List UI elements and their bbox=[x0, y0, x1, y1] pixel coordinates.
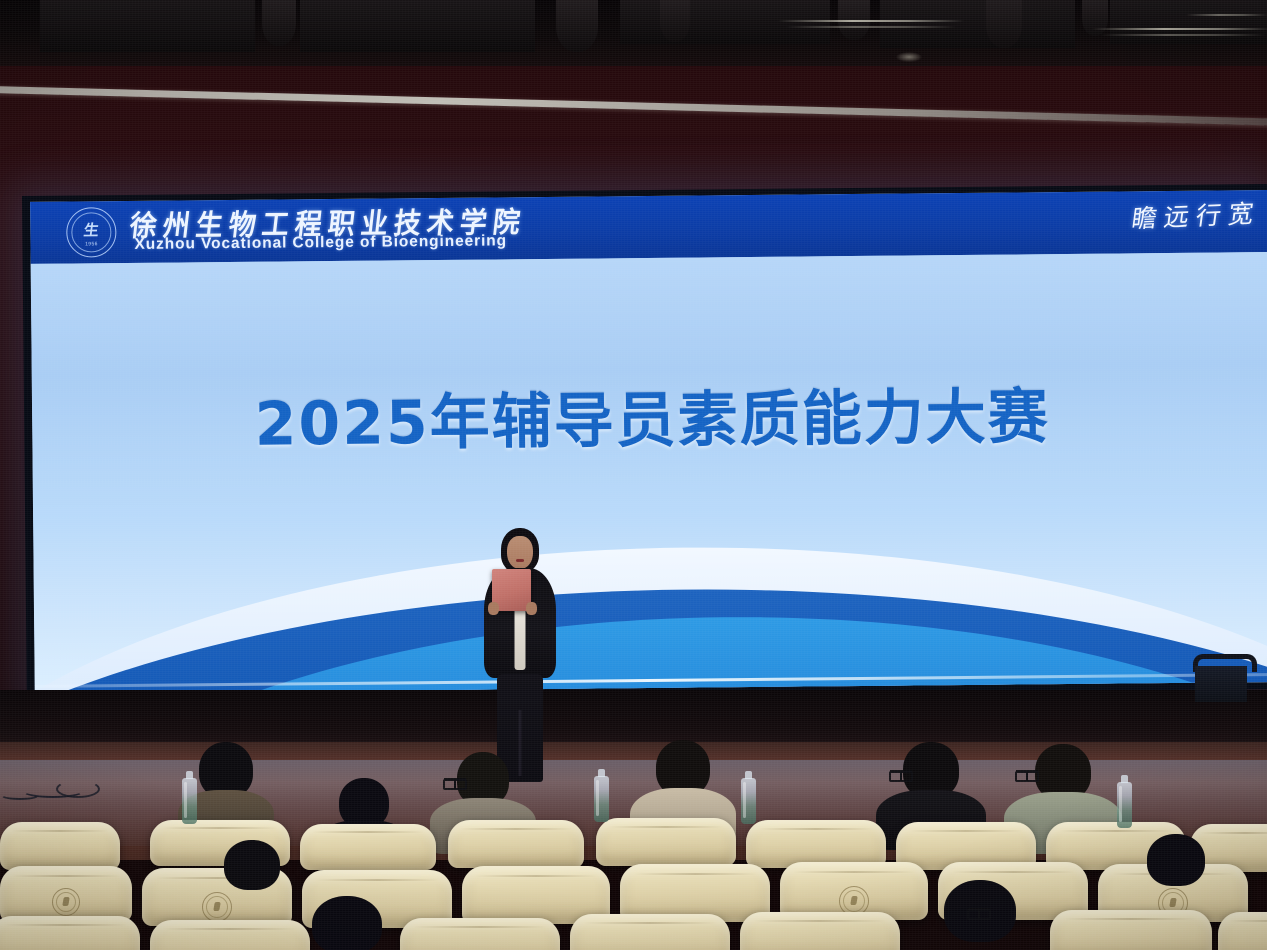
presenter bbox=[466, 528, 574, 790]
person-head bbox=[224, 840, 280, 890]
calligraphy-motto: 瞻远行宽 bbox=[1130, 194, 1263, 236]
stage-light-icon bbox=[262, 0, 296, 46]
glasses-icon bbox=[890, 770, 912, 777]
presenter-blouse bbox=[515, 608, 526, 670]
presenter-face bbox=[507, 536, 533, 569]
stage-light-icon bbox=[660, 0, 690, 42]
water-bottle bbox=[594, 776, 609, 822]
light-glint bbox=[786, 26, 956, 28]
stage-light-icon bbox=[986, 0, 1022, 48]
slide-body: 2025年辅导员素质能力大赛 2025年9月4日 bbox=[31, 252, 1267, 694]
person-head bbox=[1147, 834, 1205, 886]
led-screen-surface: 生 1956 徐州生物工程职业技术学院 Xuzhou Vocational Co… bbox=[30, 190, 1267, 694]
glasses-icon bbox=[968, 908, 990, 915]
audience-person bbox=[1128, 834, 1224, 896]
audience-chair[interactable] bbox=[0, 822, 120, 870]
light-glint bbox=[1186, 14, 1267, 16]
light-glint bbox=[1100, 34, 1266, 36]
ceiling-truss-5 bbox=[1110, 0, 1267, 44]
presenter-hand-left bbox=[488, 602, 499, 615]
glasses-icon bbox=[444, 778, 466, 785]
ceiling-truss-3 bbox=[620, 0, 830, 44]
audience-chair[interactable] bbox=[400, 918, 560, 950]
slide-title: 2025年辅导员素质能力大赛 bbox=[32, 366, 1267, 465]
water-bottle bbox=[1117, 782, 1132, 828]
chair-emblem-icon bbox=[52, 888, 80, 916]
audience-person bbox=[922, 880, 1038, 950]
stage-railing bbox=[1189, 648, 1251, 704]
seal-mark: 生 bbox=[82, 222, 100, 238]
audience-chair[interactable] bbox=[448, 820, 584, 868]
audience-chair[interactable] bbox=[300, 824, 436, 870]
stage-light-icon bbox=[556, 0, 598, 52]
ceiling-truss-1 bbox=[40, 0, 255, 52]
audience-chair[interactable] bbox=[1218, 912, 1267, 950]
audience-chair[interactable] bbox=[570, 914, 730, 950]
water-bottle bbox=[182, 778, 197, 824]
audience-chair[interactable] bbox=[0, 916, 140, 950]
light-spot bbox=[896, 52, 922, 62]
stage-light-icon bbox=[1082, 0, 1108, 36]
presenter-hand-right bbox=[526, 602, 537, 615]
audience-chair[interactable] bbox=[596, 818, 736, 866]
water-bottle bbox=[741, 778, 756, 824]
glasses-icon bbox=[1016, 770, 1038, 777]
light-glint bbox=[1092, 28, 1267, 30]
audience-person bbox=[292, 896, 402, 950]
audience-person bbox=[206, 840, 298, 900]
audience-chair[interactable] bbox=[150, 920, 310, 950]
ceiling-truss-4 bbox=[880, 0, 1075, 48]
college-seal-icon: 生 1956 bbox=[66, 207, 116, 257]
seal-year: 1956 bbox=[67, 241, 115, 247]
auditorium-scene: 生 1956 徐州生物工程职业技术学院 Xuzhou Vocational Co… bbox=[0, 0, 1267, 950]
audience-chair[interactable] bbox=[1050, 910, 1212, 950]
audience-chair[interactable] bbox=[740, 912, 900, 950]
presenter-lips bbox=[516, 559, 524, 562]
audience-chair[interactable] bbox=[0, 866, 132, 922]
ceiling-truss-2 bbox=[300, 0, 535, 52]
led-screen[interactable]: 生 1956 徐州生物工程职业技术学院 Xuzhou Vocational Co… bbox=[22, 184, 1267, 701]
person-head bbox=[312, 896, 382, 950]
audience-chair[interactable] bbox=[746, 820, 886, 868]
light-glint bbox=[778, 20, 964, 22]
stage-cable bbox=[56, 780, 100, 798]
stage-cable bbox=[0, 790, 40, 800]
institution-name-en: Xuzhou Vocational College of Bioengineer… bbox=[134, 232, 507, 254]
